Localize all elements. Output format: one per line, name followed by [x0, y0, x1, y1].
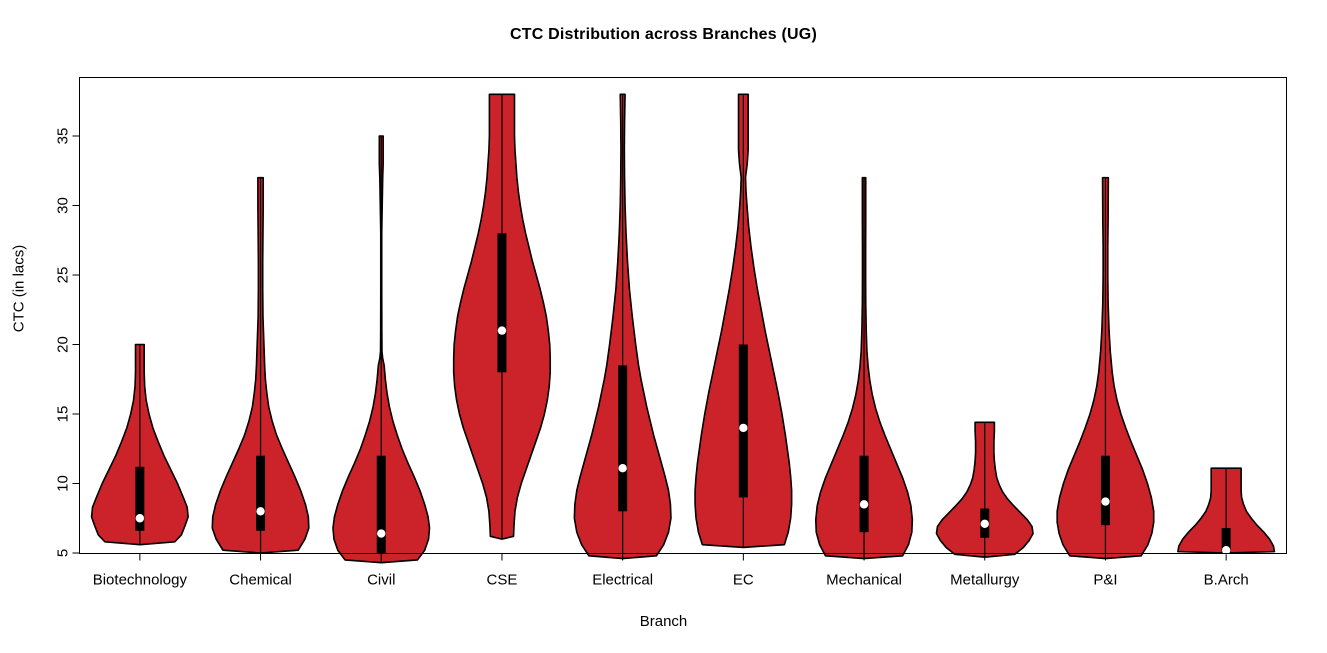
x-axis-tick-label-metallurgy: Metallurgy: [950, 572, 1020, 589]
violin-median-dot: [256, 507, 264, 515]
violin-median-dot: [981, 520, 989, 528]
violin-chemical: [212, 178, 309, 553]
y-axis-tick-label: 5: [54, 549, 71, 557]
violin-plot-figure: CTC Distribution across Branches (UG) CT…: [0, 0, 1327, 653]
violin-b-arch: [1178, 468, 1275, 554]
violin-median-dot: [739, 424, 747, 432]
violin-biotechnology: [92, 345, 189, 545]
x-axis-tick-label-mechanical: Mechanical: [826, 572, 902, 589]
x-axis-tick-label-cse: CSE: [487, 572, 518, 589]
violin-cse: [454, 94, 551, 539]
x-axis-tick-label-chemical: Chemical: [229, 572, 292, 589]
violin-median-dot: [377, 529, 385, 537]
violin-civil: [333, 136, 430, 563]
violin-median-dot: [136, 514, 144, 522]
y-axis-tick-label: 20: [54, 336, 71, 353]
y-axis-tick-label: 10: [54, 475, 71, 492]
violin-ec: [695, 94, 792, 547]
violin-mechanical: [816, 178, 913, 559]
violin-iqr-box: [618, 365, 627, 511]
x-axis-tick-label-electrical: Electrical: [592, 572, 653, 589]
x-axis-tick-label-b-arch: B.Arch: [1204, 572, 1249, 589]
violin-metallurgy: [936, 422, 1033, 557]
violin-iqr-box: [739, 345, 748, 498]
violin-iqr-box: [1101, 456, 1110, 526]
y-axis-tick-label: 30: [54, 197, 71, 214]
y-axis-tick-label: 15: [54, 406, 71, 423]
violin-iqr-box: [497, 233, 506, 372]
x-axis-tick-labels: BiotechnologyChemicalCivilCSEElectricalE…: [93, 572, 1249, 589]
violin-iqr-box: [256, 456, 265, 531]
x-axis-tick-label-civil: Civil: [367, 572, 395, 589]
y-axis-tick-label: 25: [54, 267, 71, 284]
violin-iqr-box: [377, 456, 386, 553]
x-axis-tick-label-ec: EC: [733, 572, 754, 589]
violin-iqr-box: [860, 456, 869, 532]
violin-electrical: [574, 94, 671, 558]
x-axis-tick-label-p-i: P&I: [1093, 572, 1117, 589]
violin-median-dot: [618, 464, 626, 472]
violin-p-i: [1057, 178, 1154, 559]
violin-median-dot: [860, 500, 868, 508]
x-axis-tick-label-biotechnology: Biotechnology: [93, 572, 188, 589]
violin-median-dot: [498, 326, 506, 334]
plot-canvas: 5101520253035 BiotechnologyChemicalCivil…: [0, 0, 1327, 653]
y-axis-tick-label: 35: [54, 128, 71, 145]
violin-median-dot: [1101, 497, 1109, 505]
violin-series-group: [92, 94, 1275, 562]
